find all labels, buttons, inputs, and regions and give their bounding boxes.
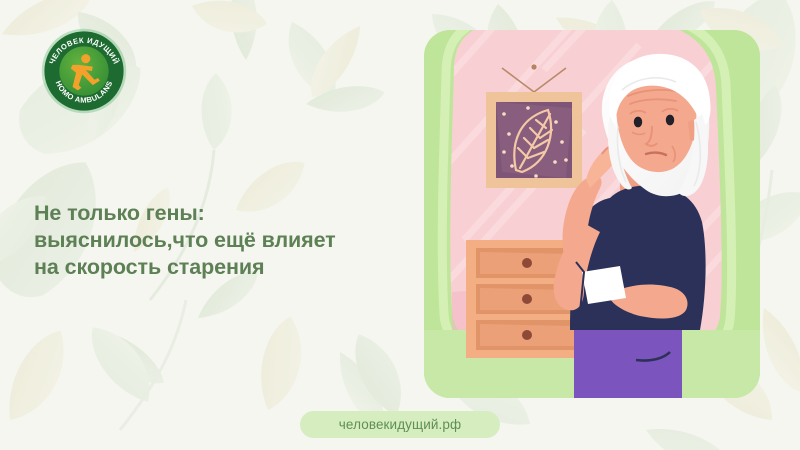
picture-nail: [531, 64, 536, 69]
headline-line-2: выяснилось,что ещё влияет: [34, 227, 414, 254]
site-url-label: человекидущий.рф: [339, 417, 461, 432]
elderly-woman-thinking-illustration: [424, 30, 760, 398]
poster-canvas: ЧЕЛОВЕК ИДУЩИЙ HOMO AMBULANS Не только г…: [0, 0, 800, 450]
site-url-badge[interactable]: человекидущий.рф: [300, 411, 500, 438]
headline-line-1: Не только гены:: [34, 200, 414, 227]
woman-pants: [574, 330, 682, 398]
dresser-drawer: [476, 320, 578, 350]
dresser-knob: [522, 258, 532, 268]
dresser-knob: [522, 294, 532, 304]
dresser-knob: [522, 330, 532, 340]
headline-line-3: на скорость старения: [34, 254, 414, 281]
brand-logo[interactable]: ЧЕЛОВЕК ИДУЩИЙ HOMO AMBULANS: [40, 27, 128, 115]
page-title: Не только гены: выяснилось,что ещё влияе…: [34, 200, 414, 281]
